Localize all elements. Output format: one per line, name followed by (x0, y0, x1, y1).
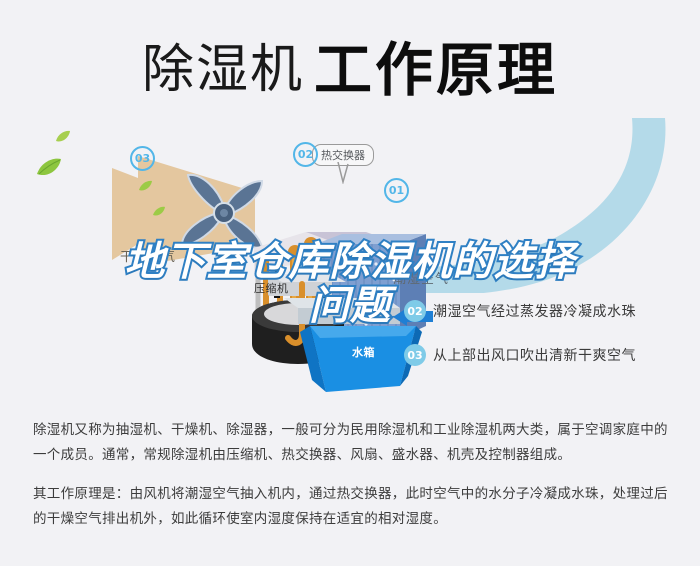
step-badge-02: 02 (404, 300, 426, 322)
marker-02: 02 (293, 142, 318, 167)
infographic-page: 除湿机 工作原理 (0, 0, 700, 566)
page-title: 除湿机 工作原理 (0, 30, 700, 110)
leaf-icon (138, 180, 153, 193)
leaf-icon (36, 158, 62, 178)
step-text-03: 从上部出风口吹出清新干爽空气 (433, 345, 636, 365)
paragraph-1: 除湿机又称为抽湿机、干燥机、除湿器，一般可分为民用除湿机和工业除湿机两大类，属于… (33, 418, 673, 468)
paragraph-2: 其工作原理是：由风机将潮湿空气抽入机内，通过热交换器，此时空气中的水分子冷凝成水… (33, 482, 673, 532)
marker-03: 03 (130, 146, 155, 171)
water-tank-label: 水箱 (352, 344, 375, 360)
step-text-02: 潮湿空气经过蒸发器冷凝成水珠 (433, 301, 636, 321)
body-copy: 除湿机又称为抽湿机、干燥机、除湿器，一般可分为民用除湿机和工业除湿机两大类，属于… (33, 418, 673, 546)
title-part-1: 除湿机 (142, 44, 304, 96)
list-item: 02 潮湿空气经过蒸发器冷凝成水珠 (404, 300, 700, 322)
step-list: 02 潮湿空气经过蒸发器冷凝成水珠 03 从上部出风口吹出清新干爽空气 (404, 300, 700, 388)
step-badge-03: 03 (404, 344, 426, 366)
dry-air-label: 干燥空气 (120, 246, 176, 265)
title-part-2: 工作原理 (314, 41, 558, 99)
humid-air-label: 潮湿空气 (393, 268, 449, 287)
leaf-icon (55, 130, 71, 144)
callout-tail-icon (336, 162, 350, 184)
leaf-icon (152, 206, 166, 218)
marker-01: 01 (384, 178, 409, 203)
list-item: 03 从上部出风口吹出清新干爽空气 (404, 344, 700, 366)
humid-air-curve (420, 118, 690, 293)
compressor-label: 压缩机 (254, 280, 289, 296)
